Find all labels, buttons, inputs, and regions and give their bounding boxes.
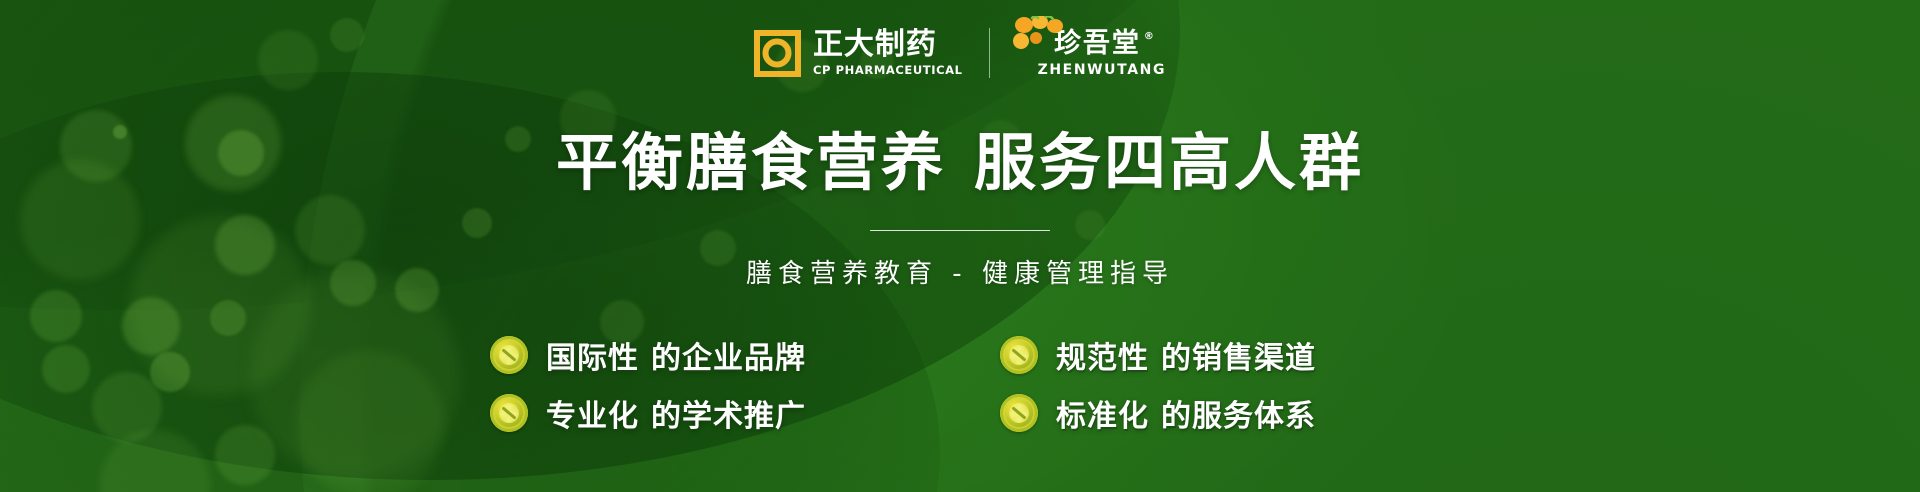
registered-trademark-icon: ® — [1144, 32, 1154, 42]
square-ring-logo-icon — [754, 30, 801, 77]
feature-item: 专业化的学术推广 — [490, 384, 920, 442]
gold-coin-icon — [1000, 394, 1038, 432]
feature-highlight: 专业化 — [546, 399, 639, 434]
feature-text: 的服务体系 — [1161, 399, 1316, 434]
feature-text: 的企业品牌 — [651, 341, 806, 376]
feature-item: 规范性的销售渠道 — [1000, 326, 1430, 384]
orange-fruit-cluster-icon — [1012, 16, 1076, 50]
headline: 平衡膳食营养服务四高人群 — [556, 112, 1364, 202]
feature-label: 专业化的学术推广 — [546, 391, 806, 435]
feature-label: 标准化的服务体系 — [1056, 391, 1316, 435]
cp-logo-text: 正大制药 CP PHARMACEUTICAL — [813, 30, 963, 77]
zhenwutang-english-name: ZHENWUTANG — [1016, 63, 1166, 77]
gold-coin-icon — [490, 336, 528, 374]
feature-label: 国际性的企业品牌 — [546, 333, 806, 377]
banner-content: 正大制药 CP PHARMACEUTICAL 珍吾堂 ® — [0, 0, 1920, 492]
subtitle: 膳食营养教育 - 健康管理指导 — [746, 253, 1174, 290]
gold-coin-icon — [490, 394, 528, 432]
zhenwutang-logo: 珍吾堂 ® ZHENWUTANG — [1016, 30, 1166, 77]
cp-logo-chinese-name: 正大制药 — [813, 30, 963, 60]
feature-highlight: 国际性 — [546, 341, 639, 376]
headline-part-1: 平衡膳食营养 — [556, 126, 946, 199]
feature-text: 的销售渠道 — [1161, 341, 1316, 376]
feature-item: 国际性的企业品牌 — [490, 326, 920, 384]
feature-text: 的学术推广 — [651, 399, 806, 434]
cp-pharmaceutical-logo: 正大制药 CP PHARMACEUTICAL — [754, 30, 963, 77]
feature-list: 国际性的企业品牌规范性的销售渠道专业化的学术推广标准化的服务体系 — [490, 326, 1430, 442]
promotional-banner: 正大制药 CP PHARMACEUTICAL 珍吾堂 ® — [0, 0, 1920, 492]
gold-coin-icon — [1000, 336, 1038, 374]
feature-highlight: 规范性 — [1056, 341, 1149, 376]
feature-highlight: 标准化 — [1056, 399, 1149, 434]
feature-item: 标准化的服务体系 — [1000, 384, 1430, 442]
headline-part-2: 服务四高人群 — [974, 126, 1364, 199]
logo-divider — [989, 28, 990, 78]
cp-logo-english-name: CP PHARMACEUTICAL — [813, 65, 963, 77]
feature-label: 规范性的销售渠道 — [1056, 333, 1316, 377]
logo-row: 正大制药 CP PHARMACEUTICAL 珍吾堂 ® — [754, 22, 1166, 84]
headline-divider-rule — [870, 230, 1050, 231]
